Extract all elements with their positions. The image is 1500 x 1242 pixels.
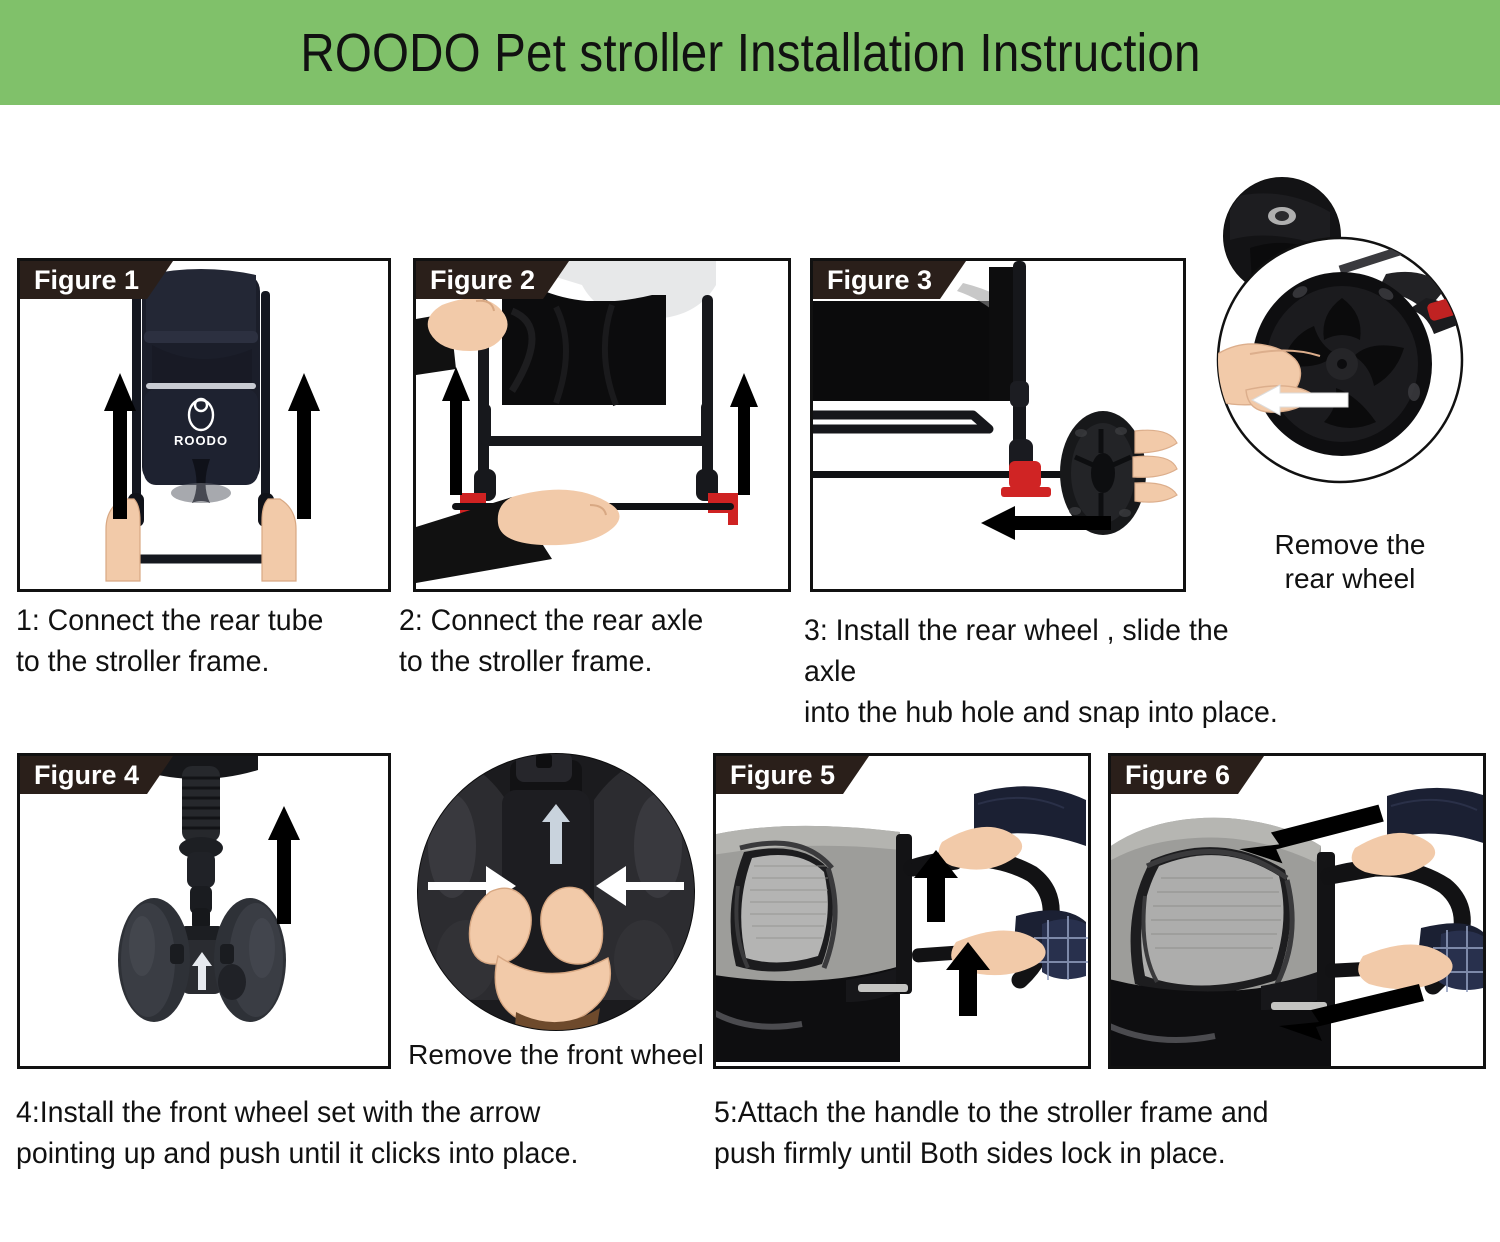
rear-wheel-inset-caption: Remove the rear wheel [1250, 528, 1450, 596]
figure-2-photo [416, 261, 782, 583]
figure-4-photo [20, 756, 382, 1060]
rear-wheel-inset [1190, 178, 1490, 508]
figure-1-label: Figure 1 [20, 261, 173, 299]
front-wheel-inset-caption: Remove the front wheel [396, 1038, 716, 1072]
figure-6-panel: Figure 6 [1108, 753, 1486, 1069]
svg-text:ROODO: ROODO [174, 433, 228, 448]
figure-6-label: Figure 6 [1111, 756, 1264, 794]
figure-3-panel: Figure 3 [810, 258, 1186, 592]
caption-step-3: 3: Install the rear wheel , slide the ax… [804, 610, 1279, 733]
page-title: ROODO Pet stroller Installation Instruct… [300, 22, 1200, 84]
figure-4-panel: Figure 4 [17, 753, 391, 1069]
caption-step-4: 4:Install the front wheel set with the a… [16, 1092, 605, 1174]
figure-4-label: Figure 4 [20, 756, 173, 794]
figure-2-panel: Figure 2 [413, 258, 791, 592]
caption-step-2: 2: Connect the rear axle to the stroller… [399, 600, 770, 682]
figure-1-photo: ROODO [20, 261, 382, 583]
page-header: ROODO Pet stroller Installation Instruct… [0, 0, 1500, 105]
figure-6-photo [1111, 756, 1477, 1060]
figure-5-photo [716, 756, 1082, 1060]
figure-2-label: Figure 2 [416, 261, 569, 299]
figure-5-label: Figure 5 [716, 756, 869, 794]
figure-3-label: Figure 3 [813, 261, 966, 299]
caption-step-1: 1: Connect the rear tube to the stroller… [16, 600, 387, 682]
front-wheel-inset [406, 750, 706, 1050]
figure-5-panel: Figure 5 [713, 753, 1091, 1069]
figure-1-panel: Figure 1 ROODO [17, 258, 391, 592]
figure-3-photo [813, 261, 1177, 583]
caption-step-5: 5:Attach the handle to the stroller fram… [714, 1092, 1360, 1174]
